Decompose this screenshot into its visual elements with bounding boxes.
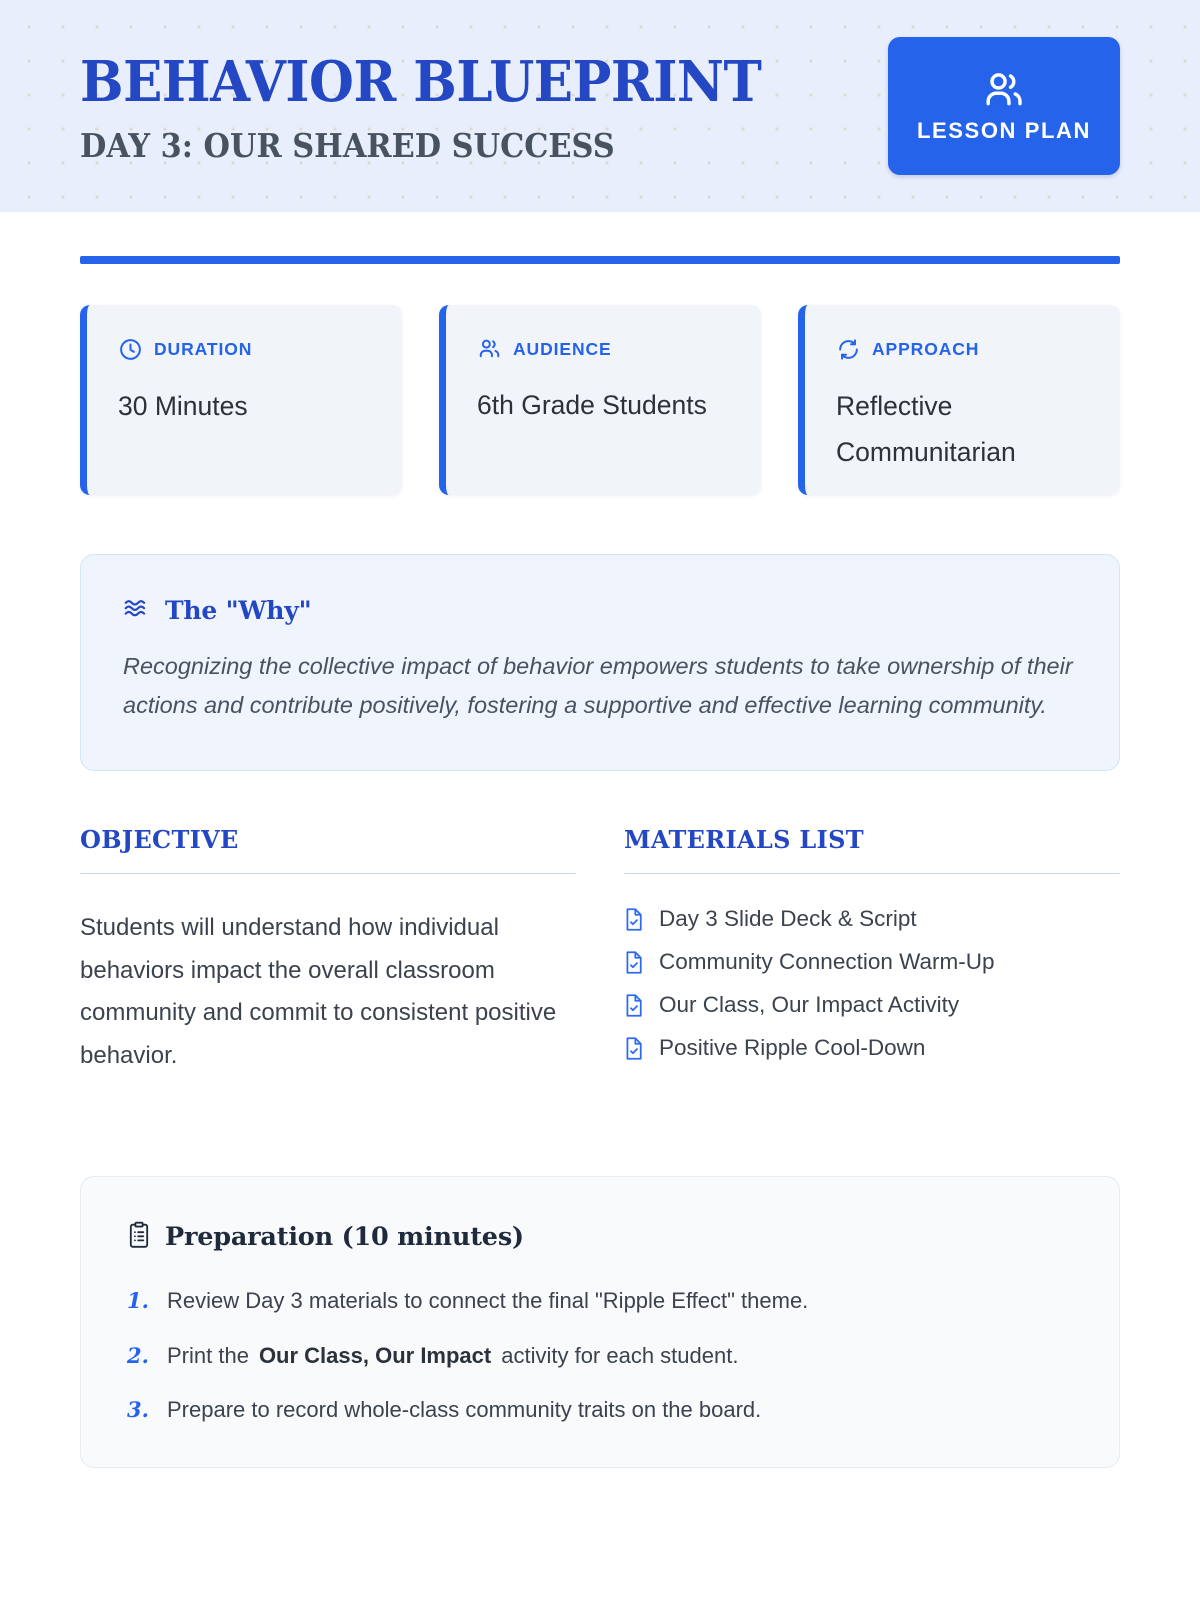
meta-card-approach: APPROACH Reflective Communitarian	[798, 305, 1120, 495]
step-text-bold: Our Class, Our Impact	[259, 1343, 491, 1368]
list-item: 2. Print theOur Class, Our Impactactivit…	[127, 1341, 1073, 1371]
meta-card-row: DURATION 30 Minutes AUDIENCE 6th Grade S…	[0, 264, 1200, 495]
title-block: BEHAVIOR BLUEPRINT DAY 3: OUR SHARED SUC…	[80, 47, 821, 165]
meta-card-audience: AUDIENCE 6th Grade Students	[439, 305, 761, 495]
why-section: The "Why" Recognizing the collective imp…	[80, 554, 1120, 771]
list-item: Day 3 Slide Deck & Script	[624, 905, 1120, 933]
list-item: Positive Ripple Cool-Down	[624, 1034, 1120, 1062]
page-title: BEHAVIOR BLUEPRINT	[80, 53, 761, 112]
meta-label: DURATION	[154, 339, 252, 360]
step-text: Print theOur Class, Our Impactactivity f…	[167, 1341, 738, 1371]
materials-column: MATERIALS LIST Day 3 Slide Deck & Script	[624, 825, 1120, 1078]
objective-column: OBJECTIVE Students will understand how i…	[80, 825, 576, 1078]
list-item: 3. Prepare to record whole-class communi…	[127, 1395, 1073, 1425]
meta-value: Reflective Communitarian	[836, 384, 1090, 476]
meta-card-duration: DURATION 30 Minutes	[80, 305, 402, 495]
preparation-title: Preparation (10 minutes)	[165, 1222, 524, 1252]
step-text-pre: Review Day 3 materials to connect the fi…	[167, 1288, 808, 1313]
step-text-pre: Prepare to record whole-class community …	[167, 1397, 761, 1422]
step-text-post: activity for each student.	[501, 1343, 738, 1368]
step-number: 3.	[127, 1397, 151, 1422]
accent-divider	[80, 256, 1120, 264]
refresh-icon	[836, 337, 861, 362]
clock-icon	[118, 337, 143, 362]
why-text: Recognizing the collective impact of beh…	[123, 647, 1079, 726]
badge-label: LESSON PLAN	[917, 120, 1091, 142]
page-header: BEHAVIOR BLUEPRINT DAY 3: OUR SHARED SUC…	[0, 0, 1200, 212]
meta-label: AUDIENCE	[513, 339, 612, 360]
clipboard-list-icon	[127, 1221, 151, 1254]
material-label: Positive Ripple Cool-Down	[659, 1034, 925, 1062]
document-check-icon	[624, 907, 645, 932]
list-item: Our Class, Our Impact Activity	[624, 991, 1120, 1019]
meta-value: 30 Minutes	[118, 384, 372, 430]
material-label: Our Class, Our Impact Activity	[659, 991, 959, 1019]
document-check-icon	[624, 950, 645, 975]
document-check-icon	[624, 993, 645, 1018]
materials-heading: MATERIALS LIST	[624, 825, 1120, 874]
step-number: 2.	[127, 1343, 151, 1368]
step-text-pre: Print the	[167, 1343, 249, 1368]
preparation-section: Preparation (10 minutes) 1. Review Day 3…	[80, 1176, 1120, 1468]
page-subtitle: DAY 3: OUR SHARED SUCCESS	[80, 126, 761, 166]
material-label: Community Connection Warm-Up	[659, 948, 995, 976]
list-item: Community Connection Warm-Up	[624, 948, 1120, 976]
waves-icon	[123, 596, 151, 625]
why-title: The "Why"	[165, 596, 311, 625]
divider-wrap	[0, 212, 1200, 264]
two-column-section: OBJECTIVE Students will understand how i…	[0, 771, 1200, 1078]
users-icon	[981, 70, 1027, 110]
materials-list: Day 3 Slide Deck & Script Community Conn…	[624, 905, 1120, 1063]
list-item: 1. Review Day 3 materials to connect the…	[127, 1286, 1073, 1316]
step-number: 1.	[127, 1288, 151, 1313]
lesson-plan-page: BEHAVIOR BLUEPRINT DAY 3: OUR SHARED SUC…	[0, 0, 1200, 1600]
material-label: Day 3 Slide Deck & Script	[659, 905, 917, 933]
step-text: Prepare to record whole-class community …	[167, 1395, 761, 1425]
objective-heading: OBJECTIVE	[80, 825, 576, 874]
lesson-plan-badge[interactable]: LESSON PLAN	[888, 37, 1120, 175]
preparation-steps: 1. Review Day 3 materials to connect the…	[127, 1286, 1073, 1425]
step-text: Review Day 3 materials to connect the fi…	[167, 1286, 808, 1316]
meta-label: APPROACH	[872, 339, 979, 360]
users-icon	[477, 337, 502, 361]
objective-text: Students will understand how individual …	[80, 907, 576, 1078]
document-check-icon	[624, 1036, 645, 1061]
meta-value: 6th Grade Students	[477, 383, 731, 429]
